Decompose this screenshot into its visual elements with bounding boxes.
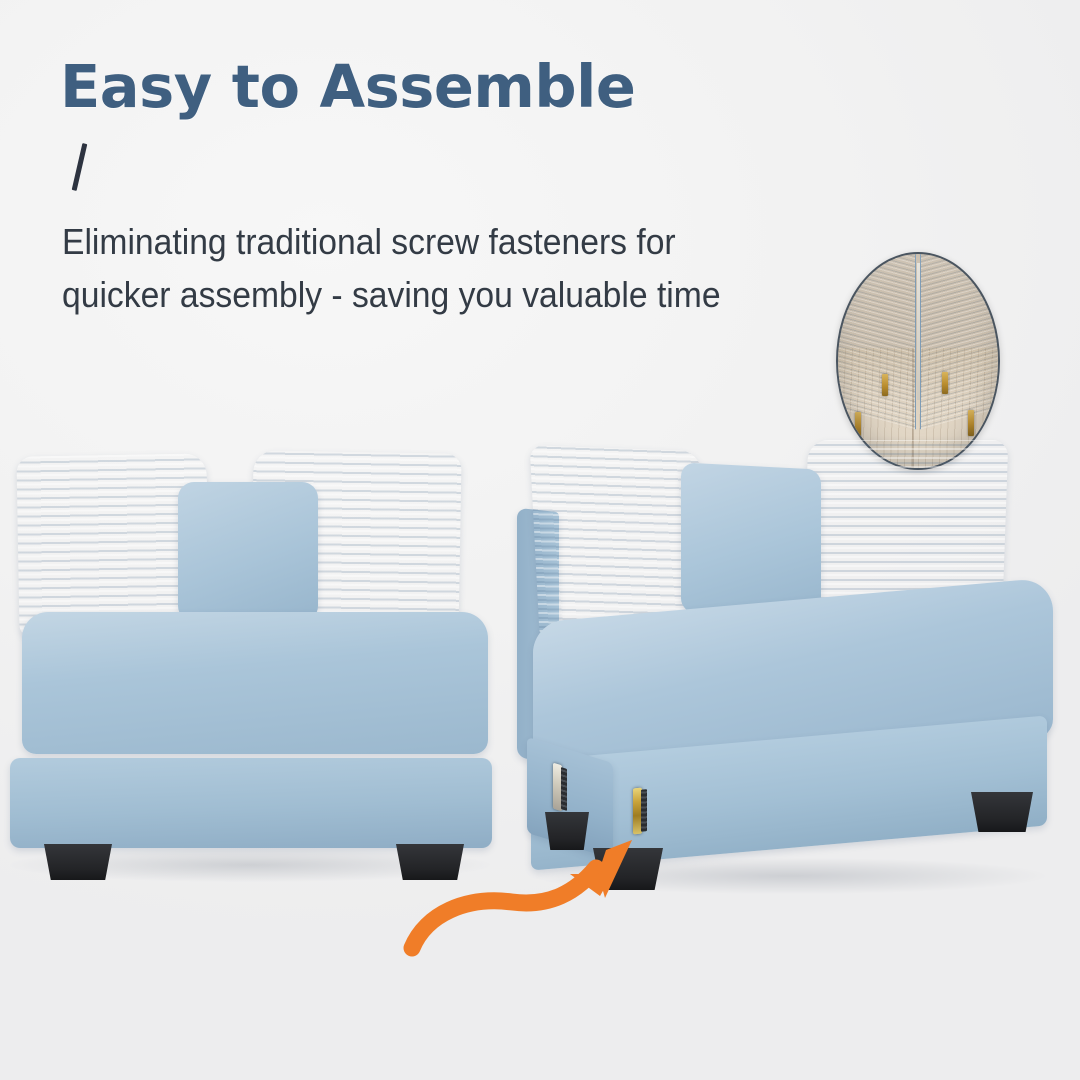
feature-description: Eliminating traditional screw fasteners … [62,216,810,322]
page-title: Easy to Assemble [60,56,635,118]
module-seam [917,263,920,400]
accent-pillow [178,482,318,622]
infographic-canvas: Easy to Assemble Eliminating traditional… [0,0,1080,1080]
foot-left [44,844,112,880]
foot-back-right [971,792,1033,832]
inset-clip-upper-right [942,372,948,394]
connector-arrow [400,830,660,960]
seat-cushion [22,612,488,754]
divider-slash-mark [66,143,94,193]
connector-clip-front [633,788,642,835]
inset-clip-upper-left [882,374,888,396]
module-left-closeup [836,252,916,430]
accent-pillow [681,462,821,619]
module-right-closeup [920,252,1000,430]
connector-clip-side [553,763,562,812]
